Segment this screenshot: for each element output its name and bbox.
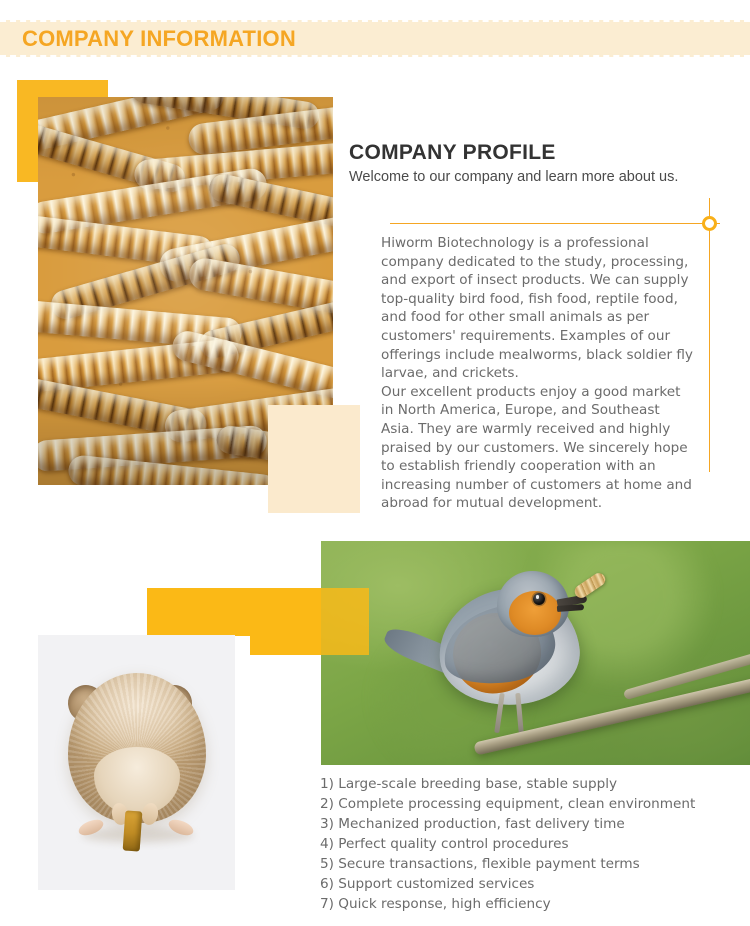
- profile-paragraph-2: Our excellent products enjoy a good mark…: [381, 383, 693, 513]
- list-item: 4) Perfect quality control procedures: [320, 834, 720, 854]
- bird-eye: [533, 593, 545, 605]
- decor-yellow-bar-overlay: [321, 588, 369, 655]
- decor-yellow-bar-lower: [250, 588, 322, 655]
- list-item: 3) Mechanized production, fast delivery …: [320, 814, 720, 834]
- profile-paragraph-1: Hiworm Biotechnology is a professional c…: [381, 234, 693, 383]
- list-item: 1) Large-scale breeding base, stable sup…: [320, 774, 720, 794]
- feature-list: 1) Large-scale breeding base, stable sup…: [320, 774, 720, 914]
- hamster-food-item: [123, 810, 143, 851]
- bird-photo: [321, 541, 750, 765]
- company-information-page: COMPANY INFORMATION COMPANY PROFILE Welc…: [0, 0, 750, 926]
- list-item: 7) Quick response, high efficiency: [320, 894, 720, 914]
- profile-subtitle: Welcome to our company and learn more ab…: [349, 169, 678, 185]
- page-title: COMPANY INFORMATION: [22, 22, 296, 55]
- profile-heading: COMPANY PROFILE: [349, 141, 556, 165]
- decor-horizontal-rule: [390, 223, 720, 224]
- list-item: 6) Support customized services: [320, 874, 720, 894]
- decor-cream-square: [268, 405, 360, 513]
- list-item: 2) Complete processing equipment, clean …: [320, 794, 720, 814]
- profile-body-copy: Hiworm Biotechnology is a professional c…: [381, 234, 693, 513]
- list-item: 5) Secure transactions, flexible payment…: [320, 854, 720, 874]
- decor-ring-marker-icon: [702, 216, 717, 231]
- hamster-photo: [38, 635, 235, 890]
- decor-vertical-rule: [709, 198, 710, 472]
